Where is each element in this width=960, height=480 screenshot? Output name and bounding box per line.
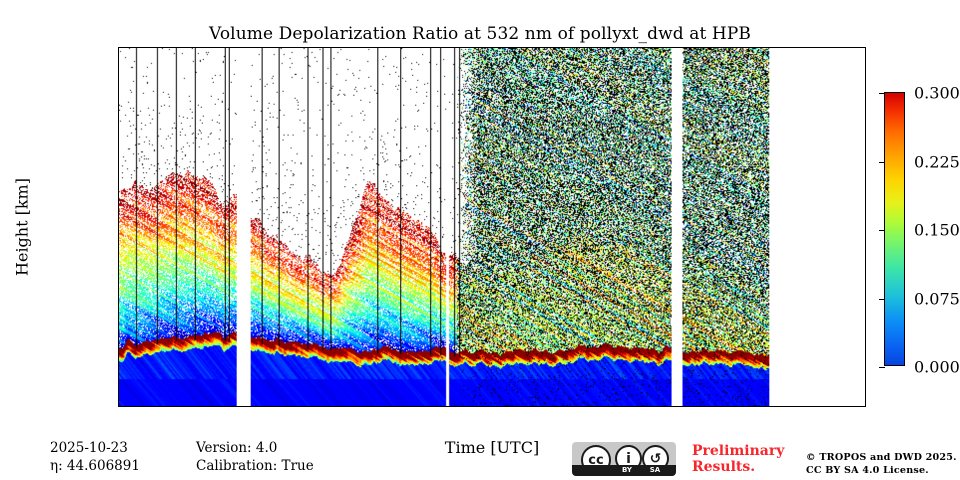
preliminary-line-1: Preliminary [692,443,784,459]
x-tick-10:00 [740,406,741,407]
y-tick-14 [118,74,119,75]
y-tick-right-2 [865,360,866,361]
y-tick-right-8 [865,217,866,218]
figure-root: Volume Depolarization Ratio at 532 nm of… [0,0,960,480]
cc-sa-label: SA [640,465,670,476]
colorbar-tick-0.000 [879,367,885,368]
colorbar-tick-label-0.150: 0.150 [914,221,960,240]
colorbar-tick-0.225 [879,162,885,163]
preliminary-results-notice: Preliminary Results. [692,443,784,475]
x-tick-08:00 [616,406,617,407]
chart-title: Volume Depolarization Ratio at 532 nm of… [0,24,960,44]
colorbar-tick-0.075 [879,299,885,300]
y-tick-6 [118,265,119,266]
copyright-line-1: © TROPOS and DWD 2025. [806,452,957,465]
y-tick-10 [118,170,119,171]
colorbar-tick-label-0.225: 0.225 [914,152,960,171]
y-tick-right-10 [865,170,866,171]
colorbar-tick-label-0.000: 0.000 [914,358,960,377]
y-tick-right-4 [865,313,866,314]
y-axis-title: Height [km] [13,178,32,276]
y-tick-right-6 [865,265,866,266]
plot-area[interactable]: 246810121400:0002:0004:0006:0008:0010:00 [118,47,866,407]
copyright-line-2: CC BY SA 4.0 License. [806,465,957,478]
y-tick-8 [118,217,119,218]
y-tick-4 [118,313,119,314]
x-tick-02:00 [243,406,244,407]
y-tick-right-14 [865,74,866,75]
creative-commons-badge[interactable]: cc i ↺ BY SA [572,442,676,476]
x-tick-top-10:00 [740,47,741,48]
x-tick-top-08:00 [616,47,617,48]
x-tick-top-04:00 [367,47,368,48]
x-tick-06:00 [491,406,492,407]
colorbar-tick-0.300 [879,93,885,94]
y-tick-12 [118,122,119,123]
copyright-notice: © TROPOS and DWD 2025. CC BY SA 4.0 Lice… [806,452,957,478]
x-tick-top-00:00 [119,47,120,48]
footer-eta: η: 44.606891 [50,458,140,474]
x-axis-title: Time [UTC] [445,438,539,457]
footer-date: 2025-10-23 [50,440,128,456]
y-tick-right-12 [865,122,866,123]
x-tick-04:00 [367,406,368,407]
x-tick-top-06:00 [491,47,492,48]
colorbar-tick-0.150 [879,230,885,231]
footer-calibration: Calibration: True [196,458,314,474]
colorbar-tick-label-0.075: 0.075 [914,289,960,308]
colorbar-tick-label-0.300: 0.300 [914,84,960,103]
x-tick-00:00 [119,406,120,407]
colorbar: 0.3000.2250.1500.0750.000 [884,92,905,366]
x-tick-top-02:00 [243,47,244,48]
footer-version: Version: 4.0 [196,440,277,456]
heatmap-canvas-wrapper [119,48,865,406]
cc-by-label: BY [612,465,642,476]
preliminary-line-2: Results. [692,459,784,475]
depolarization-heatmap [119,48,865,406]
y-tick-2 [118,360,119,361]
cc-label-bar: BY SA [572,465,676,476]
